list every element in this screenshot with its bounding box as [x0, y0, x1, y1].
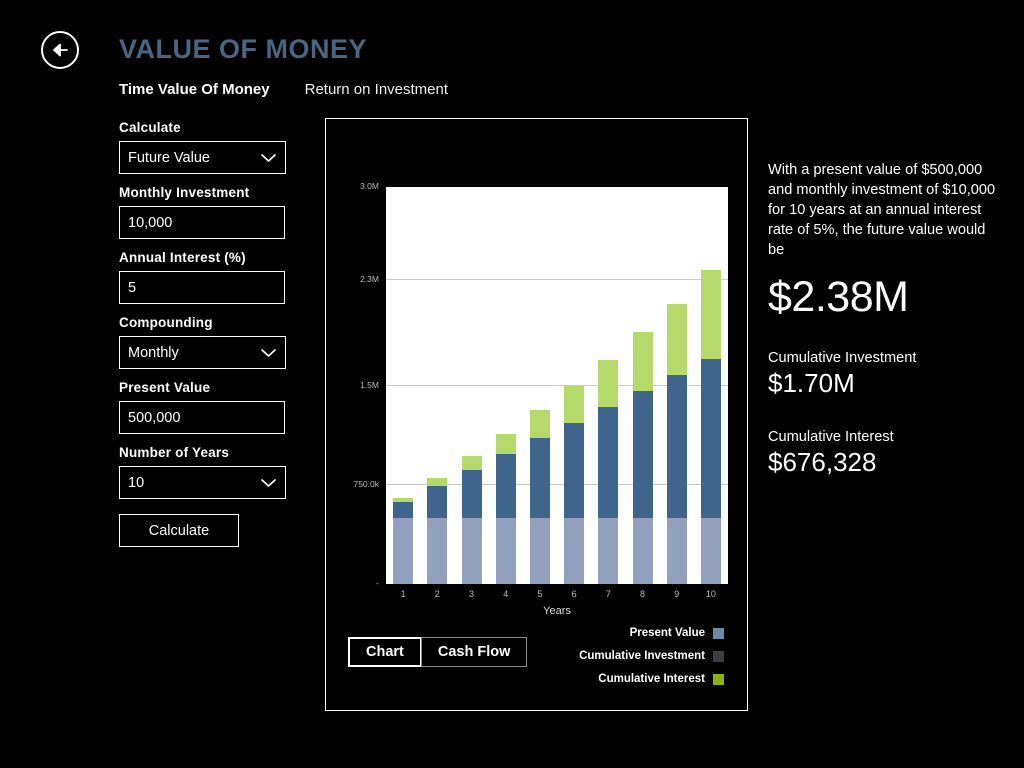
chart-xtick-label: 5 [537, 589, 542, 599]
calculator-form: Calculate Future Value Monthly Investmen… [119, 120, 309, 547]
chart-bar [530, 410, 550, 584]
chart-legend-swatch [713, 628, 724, 639]
stat-label-cumulative-investment: Cumulative Investment [768, 350, 1008, 366]
page-title: VALUE OF MONEY [119, 34, 367, 65]
calculate-select-value: Future Value [128, 150, 210, 166]
chart-bar-segment [598, 407, 618, 518]
annual-interest-input[interactable]: 5 [119, 271, 285, 304]
value-of-money-app: VALUE OF MONEY Time Value Of Money Retur… [0, 0, 1024, 768]
summary-description: With a present value of $500,000 and mon… [768, 160, 996, 260]
chart-xtick-label: 2 [435, 589, 440, 599]
chart-legend-label: Cumulative Interest [598, 673, 705, 685]
number-of-years-select[interactable]: 10 [119, 466, 286, 499]
compounding-select-value: Monthly [128, 345, 179, 361]
chart-legend-label: Present Value [630, 627, 705, 639]
chart-bar-segment [462, 470, 482, 518]
chart-bar-segment [701, 518, 721, 584]
chart-bar-group: 4 [489, 187, 523, 584]
chart-legend-label: Cumulative Investment [579, 650, 705, 662]
chart-bars: 12345678910 [386, 187, 728, 584]
chart-legend-item[interactable]: Cumulative Investment [579, 650, 724, 662]
future-value-amount: $2.38M [768, 276, 1008, 319]
chart-xtick-label: 4 [503, 589, 508, 599]
chart-bar-segment [564, 518, 584, 584]
chart-legend: Present ValueCumulative InvestmentCumula… [579, 627, 724, 685]
field-label-compounding: Compounding [119, 315, 309, 330]
chart-bar [462, 456, 482, 584]
chart-legend-swatch [713, 651, 724, 662]
chart-xaxis-title: Years [386, 605, 728, 617]
chart-bar-group: 7 [591, 187, 625, 584]
chart-bar-segment [496, 434, 516, 455]
present-value-input[interactable]: 500,000 [119, 401, 285, 434]
chart-xtick-label: 3 [469, 589, 474, 599]
chart-bar-segment [598, 518, 618, 584]
chart-bar-segment [427, 518, 447, 584]
chart-ytick-label: - [376, 578, 379, 588]
chart-bar [667, 304, 687, 584]
chevron-down-icon [261, 348, 276, 357]
chart-bar-group: 5 [523, 187, 557, 584]
field-monthly-investment: Monthly Investment 10,000 [119, 185, 309, 239]
chart-xtick-label: 10 [706, 589, 716, 599]
chart-bar-group: 3 [454, 187, 488, 584]
chevron-down-icon [261, 153, 276, 162]
chart-bar-segment [496, 454, 516, 518]
annual-interest-value: 5 [128, 280, 136, 296]
chart-view-button[interactable]: Chart [348, 637, 422, 667]
field-number-of-years: Number of Years 10 [119, 445, 309, 499]
chart-bar [393, 498, 413, 584]
tab-bar: Time Value Of Money Return on Investment [119, 81, 448, 98]
chart-ytick-label: 3.0M [360, 181, 379, 191]
chart-plot-area: -750.0k1.5M2.3M3.0M 12345678910 [386, 187, 728, 584]
number-of-years-value: 10 [128, 475, 144, 491]
chart-bar-segment [633, 391, 653, 518]
stat-value-cumulative-interest: $676,328 [768, 448, 1008, 477]
chart-bar-segment [530, 438, 550, 517]
field-compounding: Compounding Monthly [119, 315, 309, 369]
monthly-investment-value: 10,000 [128, 215, 172, 231]
cash-flow-view-button[interactable]: Cash Flow [421, 637, 528, 667]
chart-bar-group: 10 [694, 187, 728, 584]
chart-bar [598, 360, 618, 584]
compounding-select[interactable]: Monthly [119, 336, 286, 369]
chart-xtick-label: 6 [572, 589, 577, 599]
chart-bar [496, 434, 516, 584]
stat-value-cumulative-investment: $1.70M [768, 369, 1008, 398]
present-value-value: 500,000 [128, 410, 180, 426]
chart-panel: -750.0k1.5M2.3M3.0M 12345678910 Years Ch… [325, 118, 748, 711]
calculate-select[interactable]: Future Value [119, 141, 286, 174]
chart-bar-segment [701, 270, 721, 359]
chart-bar-group: 2 [420, 187, 454, 584]
chart-bar-segment [633, 332, 653, 390]
chart-bar-segment [427, 478, 447, 487]
chart-bar-segment [598, 360, 618, 407]
back-button[interactable] [41, 31, 79, 69]
chart-bar-segment [701, 359, 721, 518]
chart-ytick-label: 1.5M [360, 380, 379, 390]
field-present-value: Present Value 500,000 [119, 380, 309, 434]
chart-bar-segment [667, 375, 687, 518]
stat-cumulative-investment: Cumulative Investment $1.70M [768, 350, 1008, 398]
chart-bar-segment [530, 410, 550, 438]
chart-ytick-label: 750.0k [353, 479, 379, 489]
chart-xtick-label: 8 [640, 589, 645, 599]
chart-bar-segment [393, 502, 413, 518]
chart-bar [564, 386, 584, 585]
chart-bar-group: 1 [386, 187, 420, 584]
chart-legend-item[interactable]: Present Value [630, 627, 724, 639]
chart-bar [633, 332, 653, 584]
tab-return-on-investment[interactable]: Return on Investment [305, 81, 448, 98]
field-label-calculate: Calculate [119, 120, 309, 135]
chart-bar [701, 270, 721, 584]
chart-bar-segment [633, 518, 653, 584]
chevron-down-icon [261, 478, 276, 487]
chart-bar-segment [530, 518, 550, 584]
chart-bar-group: 6 [557, 187, 591, 584]
field-annual-interest: Annual Interest (%) 5 [119, 250, 309, 304]
tab-time-value-of-money[interactable]: Time Value Of Money [119, 81, 270, 98]
chart-bar-segment [667, 518, 687, 584]
back-arrow-icon [50, 40, 70, 60]
calculate-button[interactable]: Calculate [119, 514, 239, 547]
chart-bar-segment [667, 304, 687, 375]
chart-ytick-label: 2.3M [360, 274, 379, 284]
field-label-present-value: Present Value [119, 380, 309, 395]
chart-bar-segment [393, 518, 413, 584]
chart-bar-segment [496, 518, 516, 584]
chart-bar-group: 8 [625, 187, 659, 584]
chart-xtick-label: 7 [606, 589, 611, 599]
chart-legend-swatch [713, 674, 724, 685]
field-label-number-of-years: Number of Years [119, 445, 309, 460]
chart-bar-segment [564, 423, 584, 518]
chart-xtick-label: 9 [674, 589, 679, 599]
chart-view-toggle: Chart Cash Flow [348, 637, 527, 667]
chart-bar-group: 9 [660, 187, 694, 584]
stat-cumulative-interest: Cumulative Interest $676,328 [768, 429, 1008, 477]
chart-bar [427, 478, 447, 584]
field-label-annual-interest: Annual Interest (%) [119, 250, 309, 265]
chart-bar-segment [462, 456, 482, 470]
chart-legend-item[interactable]: Cumulative Interest [598, 673, 724, 685]
chart-bar-segment [462, 518, 482, 584]
summary-panel: With a present value of $500,000 and mon… [768, 160, 1008, 476]
chart-bar-segment [564, 386, 584, 423]
monthly-investment-input[interactable]: 10,000 [119, 206, 285, 239]
field-calculate: Calculate Future Value [119, 120, 309, 174]
field-label-monthly-investment: Monthly Investment [119, 185, 309, 200]
stat-label-cumulative-interest: Cumulative Interest [768, 429, 1008, 445]
chart-xtick-label: 1 [401, 589, 406, 599]
chart-bar-segment [427, 486, 447, 518]
